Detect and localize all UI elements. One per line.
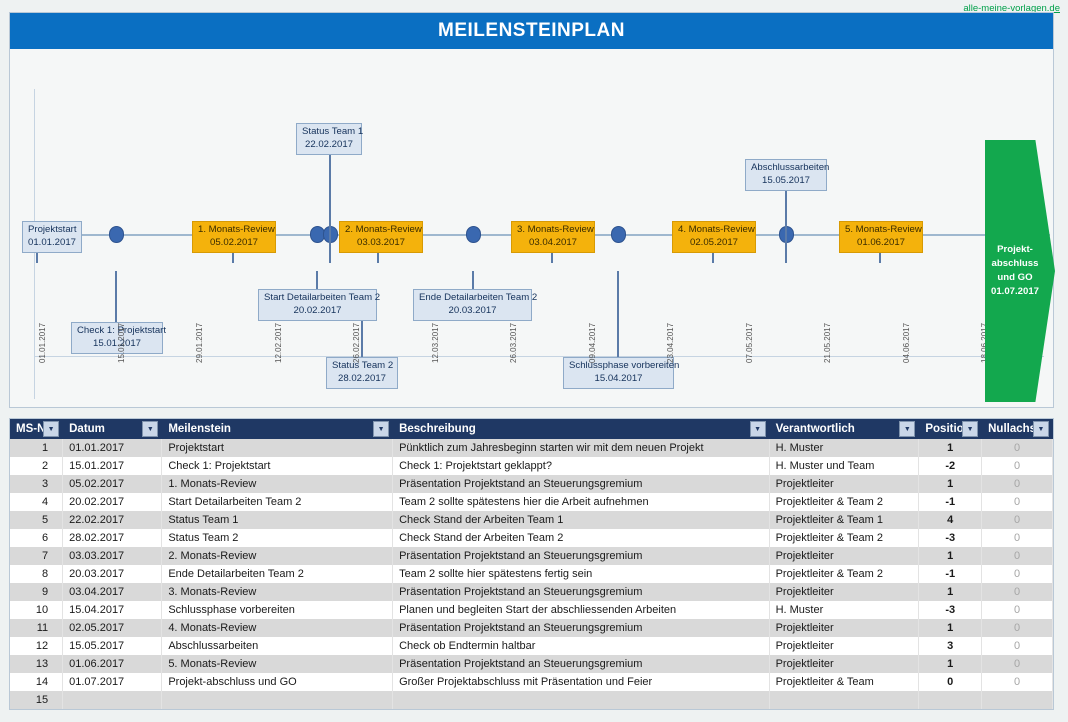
milestone-connector-line xyxy=(472,271,474,289)
cell-nullachse[interactable]: 0 xyxy=(982,673,1053,691)
cell-verantwortlich[interactable]: Projektleiter & Team xyxy=(769,673,919,691)
filter-dropdown-icon[interactable]: ▼ xyxy=(962,421,978,437)
table-head: MS-Nr.▼Datum▼Meilenstein▼Beschreibung▼Ve… xyxy=(10,419,1053,439)
cell-ms-nr[interactable]: 3 xyxy=(10,475,63,493)
table-row[interactable]: 522.02.2017Status Team 1Check Stand der … xyxy=(10,511,1053,529)
milestone-label-name: 3. Monats-Review xyxy=(517,224,589,237)
table-row[interactable]: 215.01.2017Check 1: ProjektstartCheck 1:… xyxy=(10,457,1053,475)
cell-beschreibung[interactable]: Präsentation Projektstand an Steuerungsg… xyxy=(393,475,770,493)
cell-datum[interactable]: 02.05.2017 xyxy=(63,619,162,637)
cell-datum[interactable]: 20.03.2017 xyxy=(63,565,162,583)
cell-datum[interactable]: 03.04.2017 xyxy=(63,583,162,601)
milestone-label-date: 15.05.2017 xyxy=(751,175,821,188)
milestone-plan-page: alle-meine-vorlagen.de MEILENSTEINPLAN P… xyxy=(0,0,1068,722)
cell-nullachse[interactable]: 0 xyxy=(982,565,1053,583)
cell-nullachse[interactable]: 0 xyxy=(982,457,1053,475)
milestone-label-box[interactable]: 5. Monats-Review01.06.2017 xyxy=(839,221,923,253)
cell-position[interactable]: -3 xyxy=(919,529,982,547)
milestone-label-name: 5. Monats-Review xyxy=(845,224,917,237)
milestone-label-name: 4. Monats-Review xyxy=(678,224,750,237)
table-row[interactable]: 420.02.2017Start Detailarbeiten Team 2Te… xyxy=(10,493,1053,511)
table-header-label: Datum xyxy=(69,423,105,435)
milestone-label-name: Status Team 2 xyxy=(332,360,392,373)
cell-ms-nr[interactable]: 7 xyxy=(10,547,63,565)
cell-datum[interactable]: 05.02.2017 xyxy=(63,475,162,493)
milestone-label-box[interactable]: Start Detailarbeiten Team 220.02.2017 xyxy=(258,289,377,321)
milestone-marker[interactable] xyxy=(611,226,626,243)
cell-position[interactable]: 1 xyxy=(919,583,982,601)
table-row[interactable]: 1215.05.2017AbschlussarbeitenCheck ob En… xyxy=(10,637,1053,655)
cell-ms-nr[interactable]: 12 xyxy=(10,637,63,655)
table-header-label: Verantwortlich xyxy=(776,423,855,435)
cell-ms-nr[interactable]: 1 xyxy=(10,439,63,457)
filter-dropdown-icon[interactable]: ▼ xyxy=(373,421,389,437)
cell-beschreibung[interactable]: Präsentation Projektstand an Steuerungsg… xyxy=(393,583,770,601)
cell-meilenstein[interactable]: Schlussphase vorbereiten xyxy=(162,601,393,619)
cell-nullachse[interactable]: 0 xyxy=(982,529,1053,547)
milestone-chart-card: MEILENSTEINPLAN Projektstart01.01.2017Ch… xyxy=(9,12,1054,408)
chart-title: MEILENSTEINPLAN xyxy=(10,13,1053,49)
cell-datum[interactable]: 15.05.2017 xyxy=(63,637,162,655)
end-shape-line2: abschluss xyxy=(985,257,1055,271)
milestone-label-name: Projektstart xyxy=(28,224,76,237)
table-header-position[interactable]: Position▼ xyxy=(919,419,982,439)
cell-meilenstein[interactable]: Status Team 2 xyxy=(162,529,393,547)
cell-datum[interactable] xyxy=(63,691,162,709)
milestone-label-name: Status Team 1 xyxy=(302,126,356,139)
cell-beschreibung[interactable] xyxy=(393,691,770,709)
cell-verantwortlich[interactable]: Projektleiter & Team 2 xyxy=(769,493,919,511)
chart-bottom-frame xyxy=(34,356,1044,357)
milestone-label-box[interactable]: Projektstart01.01.2017 xyxy=(22,221,82,253)
cell-verantwortlich[interactable] xyxy=(769,691,919,709)
cell-verantwortlich[interactable]: Projektleiter & Team 2 xyxy=(769,529,919,547)
cell-position[interactable]: -1 xyxy=(919,493,982,511)
table-body: 101.01.2017ProjektstartPünktlich zum Jah… xyxy=(10,439,1053,709)
cell-ms-nr[interactable]: 2 xyxy=(10,457,63,475)
milestone-label-name: Schlussphase vorbereiten xyxy=(569,360,668,373)
cell-ms-nr[interactable]: 15 xyxy=(10,691,63,709)
milestone-connector-line xyxy=(785,181,787,263)
cell-meilenstein[interactable]: 3. Monats-Review xyxy=(162,583,393,601)
cell-datum[interactable]: 22.02.2017 xyxy=(63,511,162,529)
milestone-label-name: 1. Monats-Review xyxy=(198,224,270,237)
timeline-plot-area: Projektstart01.01.2017Check 1: Projektst… xyxy=(10,49,1053,408)
cell-nullachse[interactable] xyxy=(982,691,1053,709)
milestone-connector-line xyxy=(329,145,331,263)
cell-ms-nr[interactable]: 4 xyxy=(10,493,63,511)
cell-nullachse[interactable]: 0 xyxy=(982,655,1053,673)
cell-datum[interactable]: 03.03.2017 xyxy=(63,547,162,565)
xaxis-tick-label: 26.03.2017 xyxy=(509,323,518,363)
cell-datum[interactable]: 01.07.2017 xyxy=(63,673,162,691)
cell-verantwortlich[interactable]: Projektleiter xyxy=(769,655,919,673)
xaxis-tick-label: 23.04.2017 xyxy=(666,323,675,363)
table-header-label: Meilenstein xyxy=(168,423,231,435)
milestone-label-date: 28.02.2017 xyxy=(332,373,392,386)
table-header-nullachse[interactable]: Nullachse▼ xyxy=(982,419,1053,439)
milestone-marker[interactable] xyxy=(466,226,481,243)
cell-nullachse[interactable]: 0 xyxy=(982,493,1053,511)
cell-position[interactable]: 0 xyxy=(919,673,982,691)
cell-nullachse[interactable]: 0 xyxy=(982,583,1053,601)
milestone-label-date: 03.03.2017 xyxy=(345,237,417,250)
xaxis-tick-label: 12.03.2017 xyxy=(431,323,440,363)
cell-ms-nr[interactable]: 6 xyxy=(10,529,63,547)
cell-beschreibung[interactable]: Check 1: Projektstart geklappt? xyxy=(393,457,770,475)
cell-beschreibung[interactable]: Check Stand der Arbeiten Team 2 xyxy=(393,529,770,547)
cell-datum[interactable]: 01.01.2017 xyxy=(63,439,162,457)
cell-nullachse[interactable]: 0 xyxy=(982,601,1053,619)
cell-meilenstein[interactable]: 1. Monats-Review xyxy=(162,475,393,493)
table-header-label: Beschreibung xyxy=(399,423,476,435)
milestone-label-date: 20.02.2017 xyxy=(264,305,371,318)
cell-nullachse[interactable]: 0 xyxy=(982,637,1053,655)
milestone-label-date: 02.05.2017 xyxy=(678,237,750,250)
cell-beschreibung[interactable]: Präsentation Projektstand an Steuerungsg… xyxy=(393,547,770,565)
cell-datum[interactable]: 15.01.2017 xyxy=(63,457,162,475)
cell-beschreibung[interactable]: Team 2 sollte hier spätestens fertig sei… xyxy=(393,565,770,583)
cell-ms-nr[interactable]: 9 xyxy=(10,583,63,601)
cell-nullachse[interactable]: 0 xyxy=(982,547,1053,565)
xaxis-tick-label: 29.01.2017 xyxy=(195,323,204,363)
milestone-label-date: 05.02.2017 xyxy=(198,237,270,250)
table-row[interactable]: 101.01.2017ProjektstartPünktlich zum Jah… xyxy=(10,439,1053,457)
cell-position[interactable] xyxy=(919,691,982,709)
cell-ms-nr[interactable]: 5 xyxy=(10,511,63,529)
milestone-connector-line xyxy=(617,271,619,357)
table-row[interactable]: 820.03.2017Ende Detailarbeiten Team 2Tea… xyxy=(10,565,1053,583)
cell-beschreibung[interactable]: Team 2 sollte spätestens hier die Arbeit… xyxy=(393,493,770,511)
cell-position[interactable]: 1 xyxy=(919,619,982,637)
xaxis-tick-label: 21.05.2017 xyxy=(823,323,832,363)
milestone-label-box[interactable]: Schlussphase vorbereiten15.04.2017 xyxy=(563,357,674,389)
cell-beschreibung[interactable]: Pünktlich zum Jahresbeginn starten wir m… xyxy=(393,439,770,457)
cell-beschreibung[interactable]: Präsentation Projektstand an Steuerungsg… xyxy=(393,619,770,637)
table-row[interactable]: 703.03.20172. Monats-ReviewPräsentation … xyxy=(10,547,1053,565)
table-header-beschreibung[interactable]: Beschreibung▼ xyxy=(393,419,770,439)
table-row[interactable]: 1401.07.2017Projekt-abschluss und GOGroß… xyxy=(10,673,1053,691)
milestone-label-box[interactable]: Abschlussarbeiten15.05.2017 xyxy=(745,159,827,191)
milestone-label-name: 2. Monats-Review xyxy=(345,224,417,237)
table-header-datum[interactable]: Datum▼ xyxy=(63,419,162,439)
milestone-connector-line xyxy=(316,271,318,289)
cell-meilenstein[interactable]: Ende Detailarbeiten Team 2 xyxy=(162,565,393,583)
cell-meilenstein[interactable]: 5. Monats-Review xyxy=(162,655,393,673)
project-end-shape: Projekt- abschluss und GO 01.07.2017 xyxy=(985,140,1055,402)
end-shape-line1: Projekt- xyxy=(985,243,1055,257)
milestone-label-date: 15.04.2017 xyxy=(569,373,668,386)
table-row[interactable]: 1301.06.20175. Monats-ReviewPräsentation… xyxy=(10,655,1053,673)
filter-dropdown-icon[interactable]: ▼ xyxy=(142,421,158,437)
milestone-label-name: Start Detailarbeiten Team 2 xyxy=(264,292,371,305)
filter-dropdown-icon[interactable]: ▼ xyxy=(899,421,915,437)
cell-ms-nr[interactable]: 13 xyxy=(10,655,63,673)
filter-dropdown-icon[interactable]: ▼ xyxy=(43,421,59,437)
table-row[interactable]: 305.02.20171. Monats-ReviewPräsentation … xyxy=(10,475,1053,493)
milestone-label-box[interactable]: Ende Detailarbeiten Team 220.03.2017 xyxy=(413,289,532,321)
milestone-label-date: 01.06.2017 xyxy=(845,237,917,250)
cell-position[interactable]: -3 xyxy=(919,601,982,619)
milestone-label-box[interactable]: 4. Monats-Review02.05.2017 xyxy=(672,221,756,253)
xaxis-tick-label: 12.02.2017 xyxy=(274,323,283,363)
cell-nullachse[interactable]: 0 xyxy=(982,619,1053,637)
cell-ms-nr[interactable]: 11 xyxy=(10,619,63,637)
table-header-meilenstein[interactable]: Meilenstein▼ xyxy=(162,419,393,439)
milestone-label-box[interactable]: 2. Monats-Review03.03.2017 xyxy=(339,221,423,253)
milestone-label-date: 20.03.2017 xyxy=(419,305,526,318)
cell-beschreibung[interactable]: Check ob Endtermin haltbar xyxy=(393,637,770,655)
cell-verantwortlich[interactable]: Projektleiter & Team 1 xyxy=(769,511,919,529)
cell-position[interactable]: 4 xyxy=(919,511,982,529)
table-row[interactable]: 15 xyxy=(10,691,1053,709)
milestone-label-name: Abschlussarbeiten xyxy=(751,162,821,175)
cell-position[interactable]: 1 xyxy=(919,475,982,493)
table-header-verantwortlich[interactable]: Verantwortlich▼ xyxy=(769,419,919,439)
cell-meilenstein[interactable]: Projektstart xyxy=(162,439,393,457)
cell-nullachse[interactable]: 0 xyxy=(982,439,1053,457)
milestone-label-box[interactable]: 3. Monats-Review03.04.2017 xyxy=(511,221,595,253)
cell-datum[interactable]: 01.06.2017 xyxy=(63,655,162,673)
cell-position[interactable]: 1 xyxy=(919,547,982,565)
milestone-label-date: 22.02.2017 xyxy=(302,139,356,152)
milestone-label-name: Ende Detailarbeiten Team 2 xyxy=(419,292,526,305)
cell-beschreibung[interactable]: Präsentation Projektstand an Steuerungsg… xyxy=(393,655,770,673)
cell-nullachse[interactable]: 0 xyxy=(982,475,1053,493)
cell-verantwortlich[interactable]: Projektleiter xyxy=(769,637,919,655)
cell-meilenstein[interactable]: Check 1: Projektstart xyxy=(162,457,393,475)
xaxis-tick-label: 07.05.2017 xyxy=(745,323,754,363)
table-row[interactable]: 903.04.20173. Monats-ReviewPräsentation … xyxy=(10,583,1053,601)
xaxis-tick-label: 26.02.2017 xyxy=(352,323,361,363)
cell-position[interactable]: -2 xyxy=(919,457,982,475)
xaxis-tick-label: 15.01.2017 xyxy=(117,323,126,363)
milestone-table-wrapper: MS-Nr.▼Datum▼Meilenstein▼Beschreibung▼Ve… xyxy=(9,418,1054,710)
xaxis-tick-label: 09.04.2017 xyxy=(588,323,597,363)
cell-beschreibung[interactable]: Großer Projektabschluss mit Präsentation… xyxy=(393,673,770,691)
cell-meilenstein[interactable]: Start Detailarbeiten Team 2 xyxy=(162,493,393,511)
cell-verantwortlich[interactable]: H. Muster xyxy=(769,439,919,457)
cell-datum[interactable]: 28.02.2017 xyxy=(63,529,162,547)
cell-position[interactable]: 1 xyxy=(919,655,982,673)
xaxis-tick-label: 04.06.2017 xyxy=(902,323,911,363)
table-row[interactable]: 1015.04.2017Schlussphase vorbereitenPlan… xyxy=(10,601,1053,619)
cell-meilenstein[interactable]: 2. Monats-Review xyxy=(162,547,393,565)
milestone-connector-line xyxy=(115,271,117,322)
cell-ms-nr[interactable]: 14 xyxy=(10,673,63,691)
cell-ms-nr[interactable]: 10 xyxy=(10,601,63,619)
milestone-label-box[interactable]: Status Team 122.02.2017 xyxy=(296,123,362,155)
cell-verantwortlich[interactable]: Projektleiter xyxy=(769,583,919,601)
cell-position[interactable]: 3 xyxy=(919,637,982,655)
table-header-row: MS-Nr.▼Datum▼Meilenstein▼Beschreibung▼Ve… xyxy=(10,419,1053,439)
cell-nullachse[interactable]: 0 xyxy=(982,511,1053,529)
table-header-ms-nr[interactable]: MS-Nr.▼ xyxy=(10,419,63,439)
cell-ms-nr[interactable]: 8 xyxy=(10,565,63,583)
cell-verantwortlich[interactable]: Projektleiter xyxy=(769,547,919,565)
cell-meilenstein[interactable]: 4. Monats-Review xyxy=(162,619,393,637)
cell-verantwortlich[interactable]: Projektleiter & Team 2 xyxy=(769,565,919,583)
milestone-marker[interactable] xyxy=(109,226,124,243)
cell-datum[interactable]: 15.04.2017 xyxy=(63,601,162,619)
end-shape-line3: und GO xyxy=(985,271,1055,285)
end-shape-line4: 01.07.2017 xyxy=(985,285,1055,299)
cell-meilenstein[interactable]: Projekt-abschluss und GO xyxy=(162,673,393,691)
filter-dropdown-icon[interactable]: ▼ xyxy=(750,421,766,437)
table-row[interactable]: 1102.05.20174. Monats-ReviewPräsentation… xyxy=(10,619,1053,637)
cell-position[interactable]: -1 xyxy=(919,565,982,583)
cell-beschreibung[interactable]: Planen und begleiten Start der abschlies… xyxy=(393,601,770,619)
cell-meilenstein[interactable] xyxy=(162,691,393,709)
xaxis-tick-label: 01.01.2017 xyxy=(38,323,47,363)
cell-beschreibung[interactable]: Check Stand der Arbeiten Team 1 xyxy=(393,511,770,529)
filter-dropdown-icon[interactable]: ▼ xyxy=(1033,421,1049,437)
cell-verantwortlich[interactable]: Projektleiter xyxy=(769,475,919,493)
cell-datum[interactable]: 20.02.2017 xyxy=(63,493,162,511)
cell-position[interactable]: 1 xyxy=(919,439,982,457)
milestone-label-box[interactable]: 1. Monats-Review05.02.2017 xyxy=(192,221,276,253)
milestone-label-date: 03.04.2017 xyxy=(517,237,589,250)
milestone-label-box[interactable]: Status Team 228.02.2017 xyxy=(326,357,398,389)
table-row[interactable]: 628.02.2017Status Team 2Check Stand der … xyxy=(10,529,1053,547)
milestone-label-date: 01.01.2017 xyxy=(28,237,76,250)
milestone-table: MS-Nr.▼Datum▼Meilenstein▼Beschreibung▼Ve… xyxy=(10,419,1053,709)
cell-meilenstein[interactable]: Status Team 1 xyxy=(162,511,393,529)
cell-verantwortlich[interactable]: H. Muster und Team xyxy=(769,457,919,475)
cell-verantwortlich[interactable]: Projektleiter xyxy=(769,619,919,637)
cell-meilenstein[interactable]: Abschlussarbeiten xyxy=(162,637,393,655)
cell-verantwortlich[interactable]: H. Muster xyxy=(769,601,919,619)
